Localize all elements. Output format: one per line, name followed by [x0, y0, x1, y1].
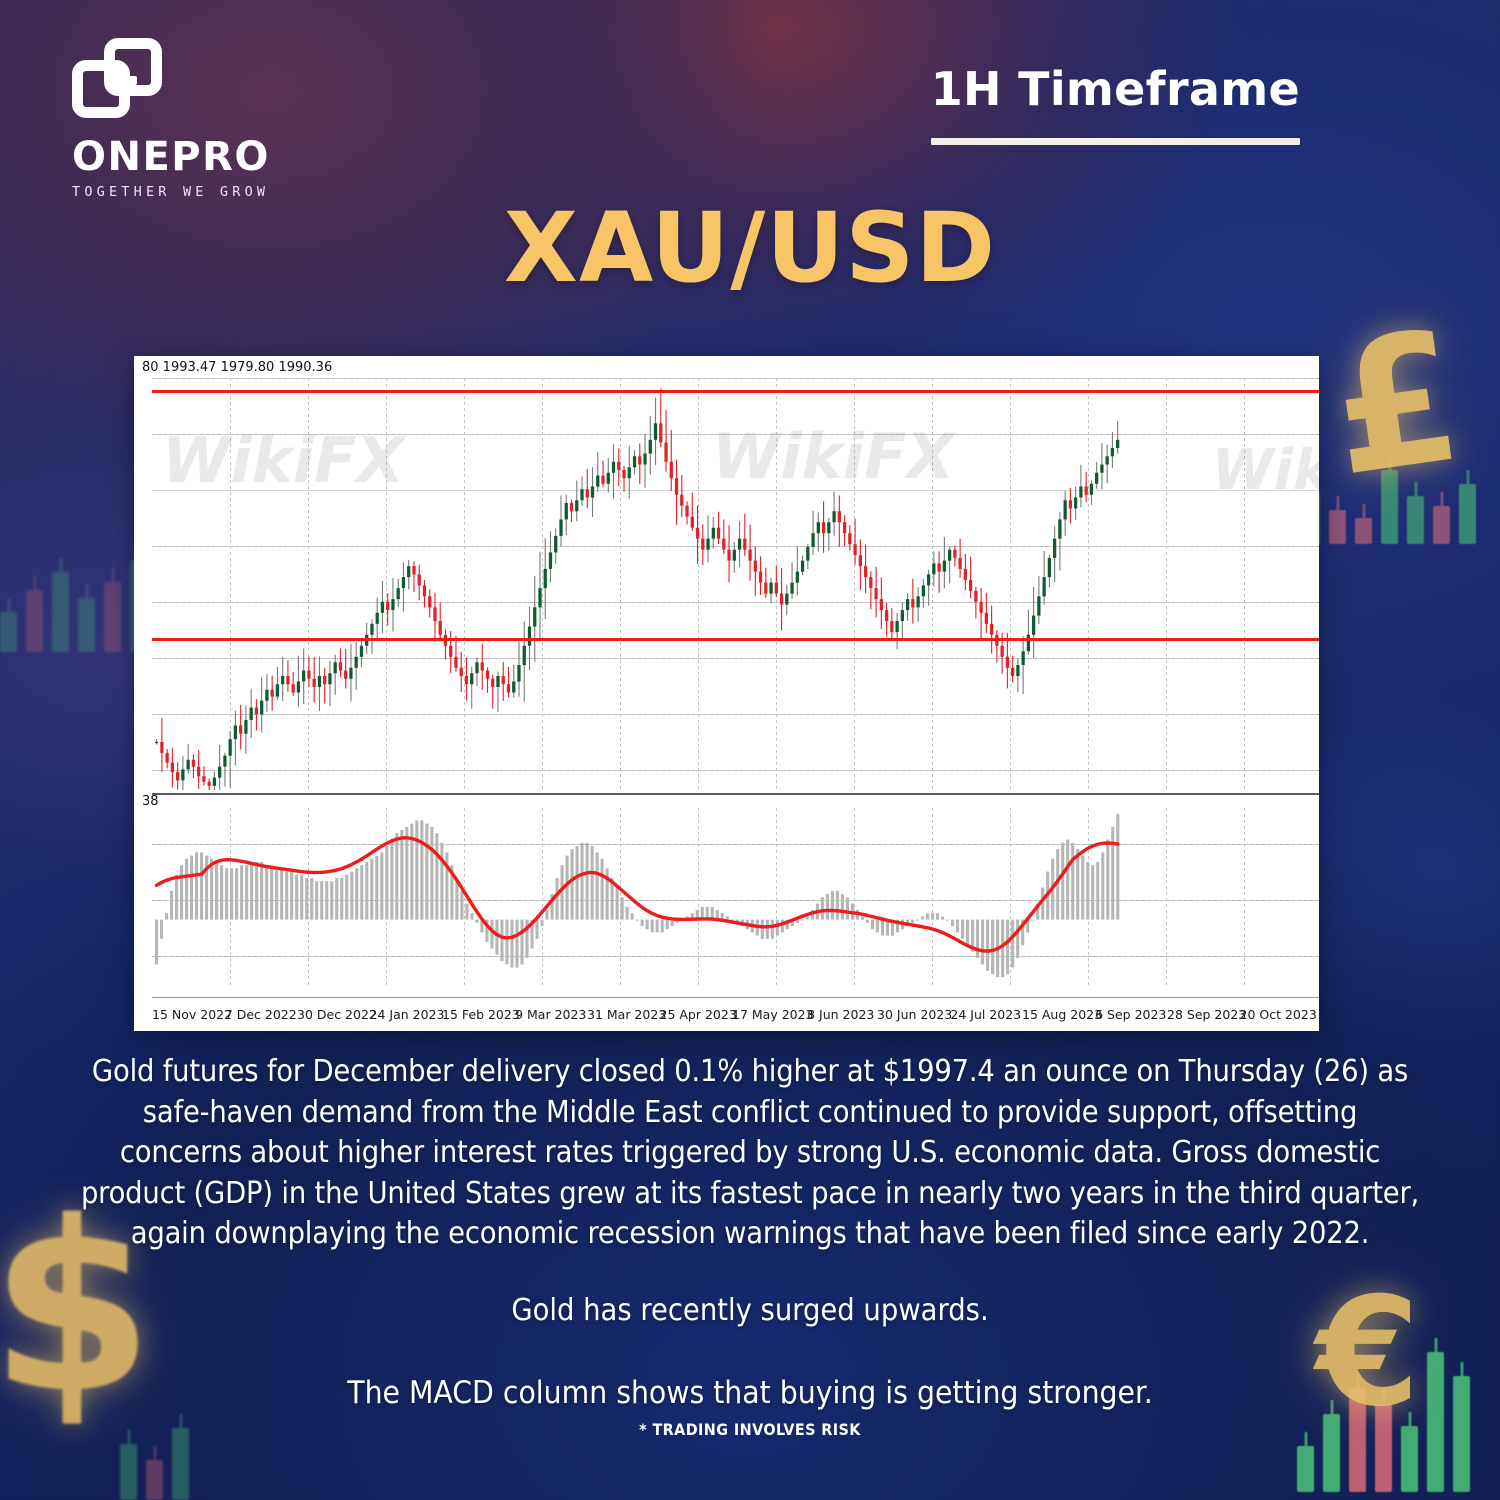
macd-series	[152, 808, 1319, 988]
interlocking-squares-icon	[72, 38, 162, 120]
timeframe-underline	[931, 138, 1300, 145]
x-axis-tick: 8 Jun 2023	[805, 1007, 878, 1022]
x-axis-tick: 25 Apr 2023	[660, 1007, 733, 1022]
x-axis-tick: 24 Jul 2023	[950, 1007, 1023, 1022]
x-axis-tick: 30 Dec 2022	[297, 1007, 370, 1022]
resistance-line	[152, 390, 1319, 393]
macd-readout: 38	[142, 794, 159, 809]
decorative-candles-top-left	[0, 560, 147, 652]
x-axis-tick: 17 May 2023	[732, 1007, 805, 1022]
x-axis-tick: 7 Dec 2022	[225, 1007, 298, 1022]
ohlc-readout: 80 1993.47 1979.80 1990.36	[142, 360, 332, 375]
x-axis-tick: 9 Mar 2023	[515, 1007, 588, 1022]
x-axis-tick: 28 Sep 2023	[1167, 1007, 1240, 1022]
risk-disclaimer: * TRADING INVOLVES RISK	[0, 1420, 1500, 1439]
x-axis-tick: 15 Aug 2023	[1022, 1007, 1095, 1022]
surge-line: Gold has recently surged upwards.	[0, 1293, 1500, 1328]
x-axis-tick: 6 Sep 2023	[1095, 1007, 1168, 1022]
timeframe-label: 1H Timeframe	[931, 62, 1300, 116]
macd-line: The MACD column shows that buying is get…	[0, 1375, 1500, 1411]
panel-divider	[152, 793, 1319, 795]
timeframe-badge: 1H Timeframe	[931, 62, 1300, 145]
page-title: XAU/USD	[0, 192, 1500, 304]
article-paragraph: Gold futures for December delivery close…	[78, 1052, 1422, 1255]
x-axis: 15 Nov 20227 Dec 202230 Dec 202224 Jan 2…	[152, 997, 1319, 1031]
candlestick-series	[152, 378, 1319, 790]
x-axis-tick: 31 Mar 2023	[587, 1007, 660, 1022]
x-axis-tick: 30 Jun 2023	[877, 1007, 950, 1022]
support-line	[152, 638, 1319, 641]
price-panel: WikiFX WikiFX WikiFX	[152, 378, 1319, 790]
x-axis-tick: 20 Oct 2023	[1240, 1007, 1313, 1022]
trading-chart[interactable]: 80 1993.47 1979.80 1990.36 38 WikiFX Wik…	[134, 356, 1319, 1031]
x-axis-tick: 24 Jan 2023	[370, 1007, 443, 1022]
x-axis-tick: 15 Feb 2023	[442, 1007, 515, 1022]
macd-panel: WikiFX WikiFX WikiFX	[152, 808, 1319, 988]
x-axis-tick: 15 Nov 2022	[152, 1007, 225, 1022]
brand-name: ONEPRO	[72, 134, 332, 180]
brand-logo: ONEPRO TOGETHER WE GROW	[72, 38, 332, 200]
